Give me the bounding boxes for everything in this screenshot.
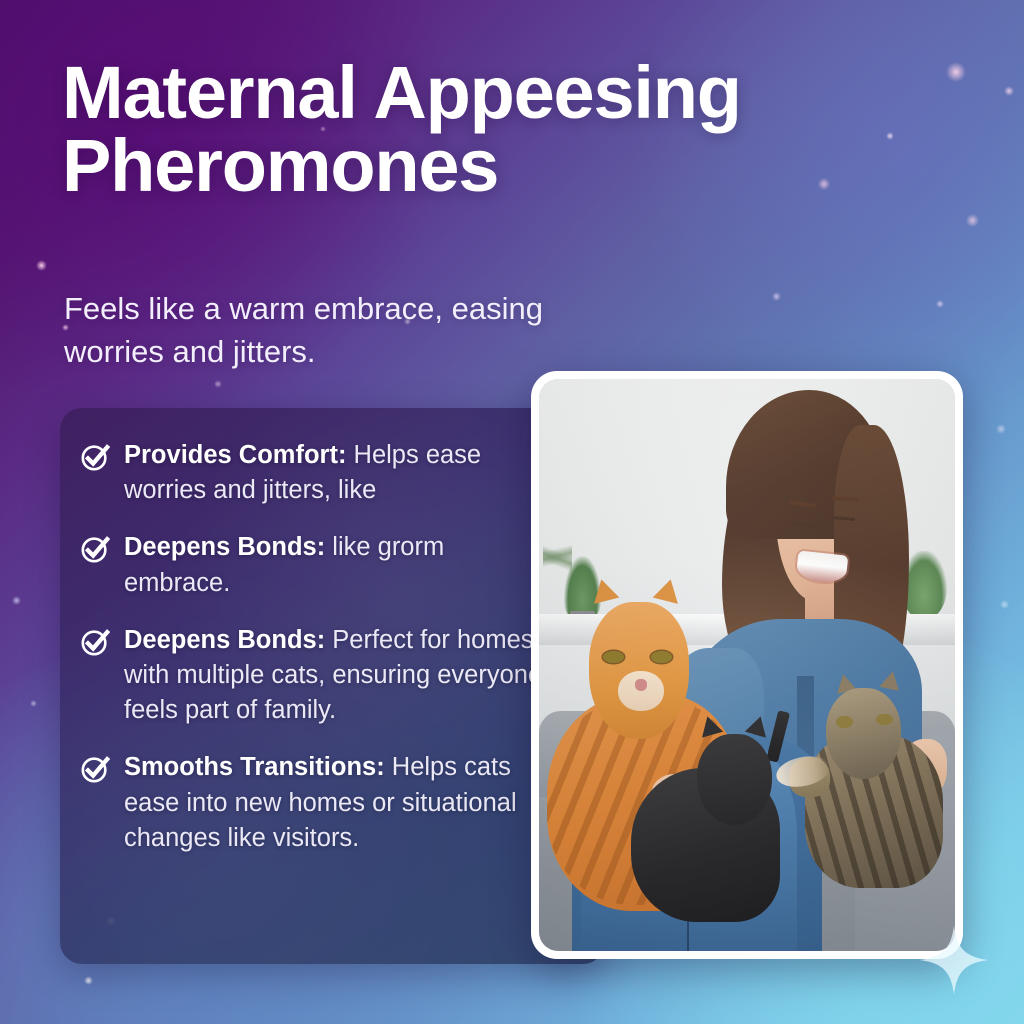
benefit-text: Smooths Transitions: Helps cats ease int… bbox=[124, 750, 544, 856]
bokeh-particle bbox=[966, 214, 979, 227]
benefit-title: Smooths Transitions: bbox=[124, 753, 385, 781]
page-title: Maternal Appeesing Pheromones bbox=[62, 56, 942, 203]
bokeh-particle bbox=[996, 424, 1006, 434]
benefit-title: Deepens Bonds: bbox=[124, 533, 325, 561]
bokeh-particle bbox=[12, 596, 21, 605]
hero-photo-card bbox=[531, 371, 963, 959]
benefit-title: Deepens Bonds: bbox=[124, 626, 325, 654]
benefit-item: Deepens Bonds: like grorm embrace. bbox=[78, 530, 579, 600]
bokeh-particle bbox=[946, 62, 966, 82]
check-circle-icon bbox=[80, 534, 110, 564]
bokeh-particle bbox=[36, 260, 47, 271]
hero-photo bbox=[539, 379, 955, 951]
bokeh-particle bbox=[214, 380, 222, 388]
bokeh-particle bbox=[936, 300, 944, 308]
bokeh-particle bbox=[772, 292, 781, 301]
benefit-text: Provides Comfort: Helps ease worries and… bbox=[124, 438, 544, 508]
bokeh-particle bbox=[1000, 600, 1009, 609]
bokeh-particle bbox=[30, 700, 37, 707]
bokeh-particle bbox=[1004, 86, 1014, 96]
page-title-line-2: Pheromones bbox=[62, 129, 942, 202]
check-circle-icon bbox=[80, 627, 110, 657]
benefit-item: Deepens Bonds: Perfect for homes with mu… bbox=[78, 623, 579, 729]
poster-canvas: Maternal Appeesing Pheromones Feels like… bbox=[0, 0, 1024, 1024]
check-circle-icon bbox=[80, 754, 110, 784]
benefits-card: Provides Comfort: Helps ease worries and… bbox=[60, 408, 605, 964]
benefit-text: Deepens Bonds: Perfect for homes with mu… bbox=[124, 623, 544, 729]
benefit-title: Provides Comfort: bbox=[124, 441, 346, 469]
check-circle-icon bbox=[80, 442, 110, 472]
page-subtitle: Feels like a warm embrace, easing worrie… bbox=[64, 287, 584, 374]
photo-vignette bbox=[539, 379, 955, 951]
bokeh-particle bbox=[84, 976, 93, 985]
sparkle-icon bbox=[918, 924, 990, 996]
benefit-item: Smooths Transitions: Helps cats ease int… bbox=[78, 750, 579, 856]
benefit-item: Provides Comfort: Helps ease worries and… bbox=[78, 438, 579, 508]
benefit-text: Deepens Bonds: like grorm embrace. bbox=[124, 530, 544, 600]
page-title-line-1: Maternal Appeesing bbox=[62, 51, 741, 134]
